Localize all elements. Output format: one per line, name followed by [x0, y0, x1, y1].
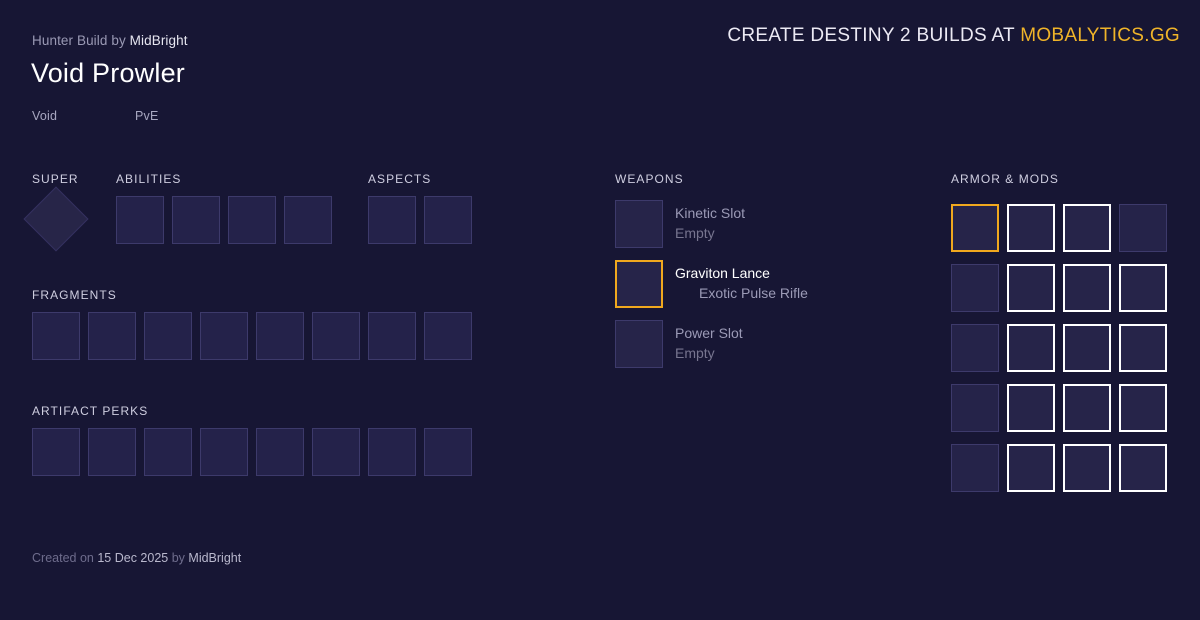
fragment-slot[interactable]: [144, 312, 192, 360]
artifact-perk-slot[interactable]: [368, 428, 416, 476]
armor-mod-slot[interactable]: [1007, 384, 1055, 432]
byline-author[interactable]: MidBright: [130, 33, 188, 48]
weapon-text: Graviton Lance Exotic Pulse Rifle: [675, 260, 808, 303]
ability-slot[interactable]: [116, 196, 164, 244]
promo-prefix: CREATE DESTINY 2 BUILDS AT: [727, 25, 1014, 46]
armor-mod-slot[interactable]: [1007, 444, 1055, 492]
footer-credit: Created on 15 Dec 2025 by MidBright: [32, 551, 241, 565]
weapon-icon[interactable]: [615, 260, 663, 308]
fragment-slot[interactable]: [368, 312, 416, 360]
fragment-slot[interactable]: [424, 312, 472, 360]
artifact-perk-slot[interactable]: [32, 428, 80, 476]
armor-mod-slot[interactable]: [1063, 384, 1111, 432]
armor-mod-slot[interactable]: [951, 264, 999, 312]
build-tags: Void PvE: [32, 109, 159, 123]
promo-banner[interactable]: CREATE DESTINY 2 BUILDS AT MOBALYTICS.GG: [727, 25, 1180, 47]
ability-slot[interactable]: [284, 196, 332, 244]
weapon-subtitle: Exotic Pulse Rifle: [675, 283, 808, 303]
build-byline: Hunter Build by MidBright: [32, 33, 188, 48]
artifact-perk-slot[interactable]: [312, 428, 360, 476]
armor-mod-slot[interactable]: [951, 384, 999, 432]
armor-mod-slot[interactable]: [1119, 204, 1167, 252]
weapon-row[interactable]: Power Slot Empty: [615, 320, 743, 368]
tag-element[interactable]: Void: [32, 109, 135, 123]
weapon-name: Power Slot: [675, 323, 743, 343]
armor-mod-slot[interactable]: [1119, 264, 1167, 312]
section-label-armor-mods: ARMOR & MODS: [951, 172, 1059, 186]
super-slot[interactable]: [23, 186, 88, 251]
weapon-row[interactable]: Graviton Lance Exotic Pulse Rifle: [615, 260, 808, 308]
footer-created-prefix: Created on: [32, 551, 94, 565]
section-label-aspects: ASPECTS: [368, 172, 431, 186]
weapon-row[interactable]: Kinetic Slot Empty: [615, 200, 745, 248]
armor-mod-slot[interactable]: [1063, 204, 1111, 252]
byline-prefix: Hunter Build by: [32, 33, 126, 48]
weapon-icon[interactable]: [615, 200, 663, 248]
armor-mod-slot[interactable]: [1007, 324, 1055, 372]
footer-date: 15 Dec 2025: [97, 551, 168, 565]
promo-brand[interactable]: MOBALYTICS.GG: [1020, 25, 1180, 46]
armor-mod-slot[interactable]: [1063, 264, 1111, 312]
armor-mod-slot[interactable]: [951, 444, 999, 492]
weapon-name: Kinetic Slot: [675, 203, 745, 223]
section-label-super: SUPER: [32, 172, 79, 186]
build-page: Hunter Build by MidBright Void Prowler C…: [0, 0, 1200, 620]
section-label-abilities: ABILITIES: [116, 172, 181, 186]
armor-mod-slot[interactable]: [1063, 324, 1111, 372]
fragment-slot[interactable]: [88, 312, 136, 360]
ability-slot[interactable]: [172, 196, 220, 244]
armor-mod-slot[interactable]: [1119, 384, 1167, 432]
artifact-perk-slot[interactable]: [144, 428, 192, 476]
armor-mod-slot[interactable]: [1063, 444, 1111, 492]
footer-author[interactable]: MidBright: [188, 551, 241, 565]
fragment-slot[interactable]: [200, 312, 248, 360]
armor-mod-slot[interactable]: [951, 324, 999, 372]
armor-mod-slot[interactable]: [1007, 204, 1055, 252]
weapon-icon[interactable]: [615, 320, 663, 368]
fragment-slot[interactable]: [256, 312, 304, 360]
weapon-text: Power Slot Empty: [675, 320, 743, 363]
aspect-slot[interactable]: [368, 196, 416, 244]
footer-by: by: [172, 551, 185, 565]
tag-activity[interactable]: PvE: [135, 109, 159, 123]
armor-mod-slot[interactable]: [1119, 444, 1167, 492]
aspect-slot[interactable]: [424, 196, 472, 244]
artifact-perk-slot[interactable]: [256, 428, 304, 476]
ability-slot[interactable]: [228, 196, 276, 244]
armor-mod-slot[interactable]: [1007, 264, 1055, 312]
artifact-perk-slot[interactable]: [424, 428, 472, 476]
fragment-slot[interactable]: [32, 312, 80, 360]
section-label-weapons: WEAPONS: [615, 172, 684, 186]
armor-mod-slot[interactable]: [951, 204, 999, 252]
armor-mod-slot[interactable]: [1119, 324, 1167, 372]
artifact-perk-slot[interactable]: [200, 428, 248, 476]
page-title: Void Prowler: [31, 58, 185, 89]
section-label-fragments: FRAGMENTS: [32, 288, 117, 302]
artifact-perk-slot[interactable]: [88, 428, 136, 476]
weapon-name: Graviton Lance: [675, 263, 808, 283]
fragment-slot[interactable]: [312, 312, 360, 360]
weapon-subtitle: Empty: [675, 343, 743, 363]
weapon-subtitle: Empty: [675, 223, 745, 243]
section-label-artifact-perks: ARTIFACT PERKS: [32, 404, 148, 418]
weapon-text: Kinetic Slot Empty: [675, 200, 745, 243]
